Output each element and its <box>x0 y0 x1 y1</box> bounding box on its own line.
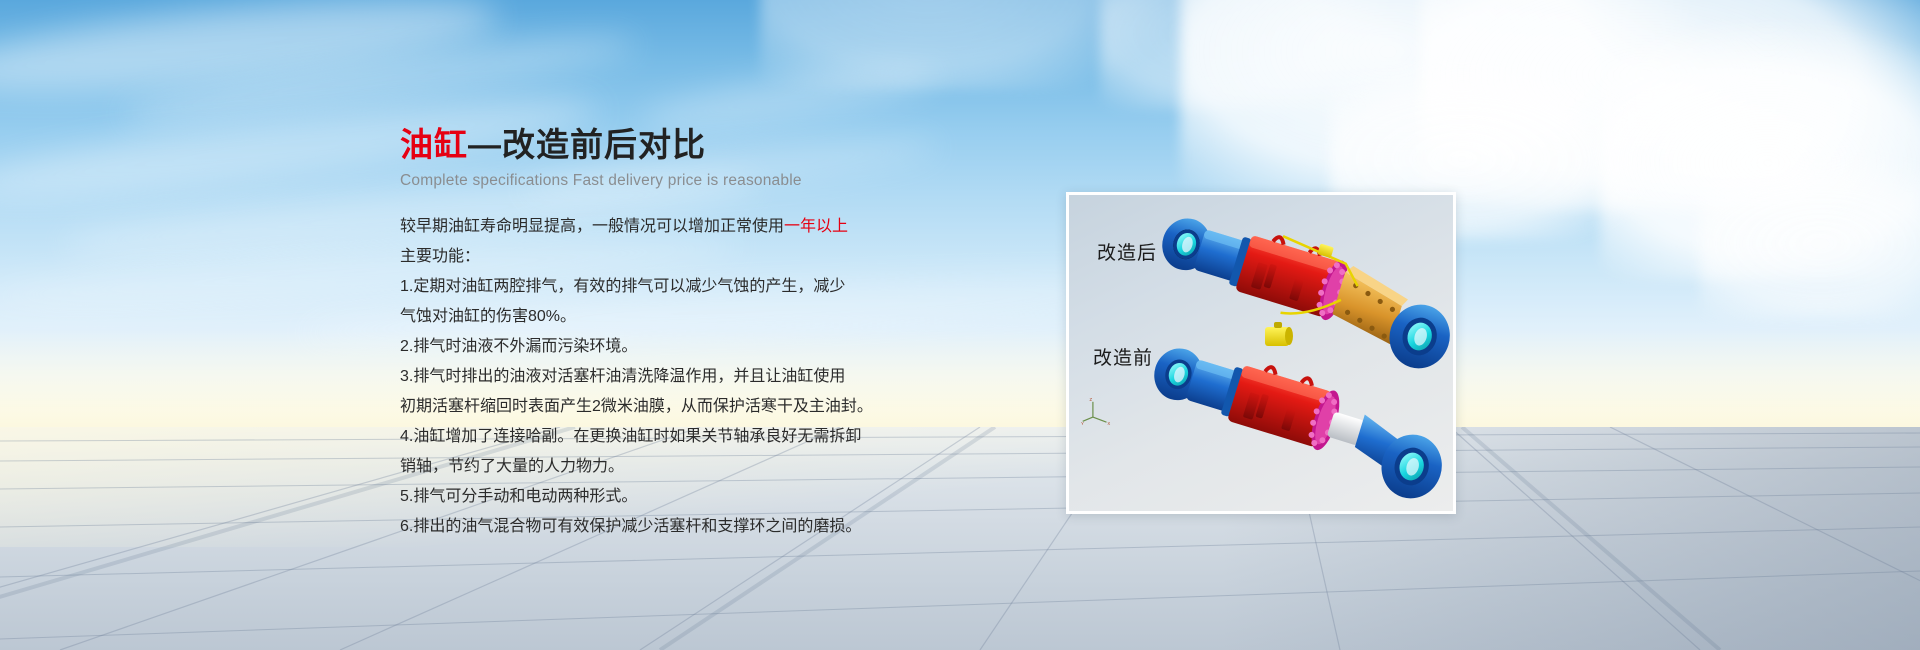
feature-line-text: 1.定期对油缸两腔排气，有效的排气可以减少气蚀的产生，减少 <box>400 278 845 295</box>
feature-line-item-5: 5.排气可分手动和电动两种形式。 <box>400 482 920 512</box>
cloud-bank <box>1420 0 1920 210</box>
vent-valve-module <box>1265 322 1293 346</box>
cylinder-after <box>1148 199 1456 376</box>
page-title-highlight: 油缸 <box>400 126 468 163</box>
feature-line-item-6: 6.排出的油气混合物可有效保护减少活塞杆和支撑环之间的磨损。 <box>400 512 920 542</box>
feature-line-text: 6.排出的油气混合物可有效保护减少活塞杆和支撑环之间的磨损。 <box>400 518 861 535</box>
feature-list: 较早期油缸寿命明显提高，一般情况可以增加正常使用一年以上 主要功能： 1.定期对… <box>400 212 920 542</box>
feature-line-item-4b: 销轴，节约了大量的人力物力。 <box>400 452 920 482</box>
feature-line-highlight: 一年以上 <box>784 218 848 235</box>
feature-line-item-1b: 气蚀对油缸的伤害80%。 <box>400 302 920 332</box>
label-after-modification: 改造后 <box>1097 238 1157 265</box>
svg-text:Y: Y <box>1081 421 1084 426</box>
svg-text:X: X <box>1107 421 1110 426</box>
cloud-bank <box>1700 150 1920 320</box>
page-subtitle: Complete specifications Fast delivery pr… <box>400 172 920 190</box>
feature-line-text: 气蚀对油缸的伤害80%。 <box>400 308 576 325</box>
feature-line-text: 3.排气时排出的油液对活塞杆油清洗降温作用，并且让油缸使用 <box>400 368 845 385</box>
comparison-image-panel: Z X Y 改造后 改造前 <box>1066 192 1456 514</box>
feature-line-item-4a: 4.油缸增加了连接哈副。在更换油缸时如果关节轴承良好无需拆卸 <box>400 422 920 452</box>
cloud-bank <box>1180 0 1700 200</box>
cloud-wisp <box>0 0 502 109</box>
feature-line-text: 初期活塞杆缩回时表面产生2微米油膜，从而保护活寒干及主油封。 <box>400 398 873 415</box>
feature-line-item-3a: 3.排气时排出的油液对活塞杆油清洗降温作用，并且让油缸使用 <box>400 362 920 392</box>
copy-block: 油缸—改造前后对比 Complete specifications Fast d… <box>400 124 920 542</box>
sky-background <box>0 0 1920 430</box>
feature-line-text: 销轴，节约了大量的人力物力。 <box>400 458 624 475</box>
feature-line-intro-1: 较早期油缸寿命明显提高，一般情况可以增加正常使用一年以上 <box>400 212 920 242</box>
feature-line-item-3b: 初期活塞杆缩回时表面产生2微米油膜，从而保护活寒干及主油封。 <box>400 392 920 422</box>
page-title: 油缸—改造前后对比 <box>400 124 920 165</box>
cloud-bank <box>760 0 1180 90</box>
cloud-bank <box>1600 20 1920 280</box>
feature-line-text: 主要功能： <box>400 248 480 265</box>
feature-line-item-2: 2.排气时油液不外漏而污染环境。 <box>400 332 920 362</box>
label-before-modification: 改造前 <box>1093 343 1153 370</box>
ground-tile-lines <box>0 427 1920 650</box>
feature-line-text: 2.排气时油液不外漏而污染环境。 <box>400 338 637 355</box>
feature-line-text: 4.油缸增加了连接哈副。在更换油缸时如果关节轴承良好无需拆卸 <box>400 428 861 445</box>
paved-ground <box>0 427 1920 650</box>
cad-axis-triad-icon: Z X Y <box>1081 395 1115 429</box>
feature-line-item-1a: 1.定期对油缸两腔排气，有效的排气可以减少气蚀的产生，减少 <box>400 272 920 302</box>
feature-line-text: 较早期油缸寿命明显提高，一般情况可以增加正常使用 <box>400 218 784 235</box>
feature-line-text: 5.排气可分手动和电动两种形式。 <box>400 488 637 505</box>
promotional-banner: 油缸—改造前后对比 Complete specifications Fast d… <box>0 0 1920 650</box>
page-title-rest: —改造前后对比 <box>468 126 706 163</box>
cloud-wisp <box>120 22 641 136</box>
svg-text:Z: Z <box>1090 397 1093 402</box>
cloud-bank <box>1100 0 1400 110</box>
feature-line-intro-2: 主要功能： <box>400 242 920 272</box>
